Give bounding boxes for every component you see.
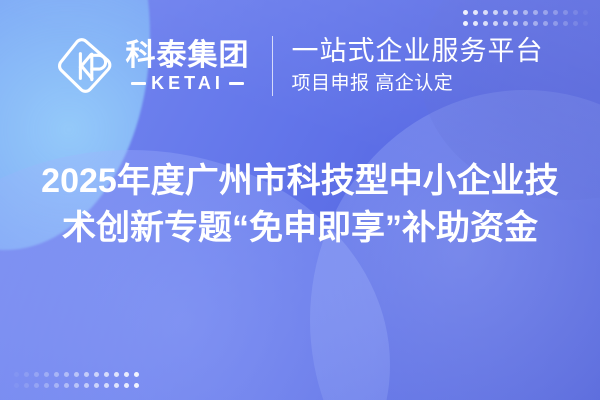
decorative-dot bbox=[463, 10, 468, 15]
decorative-dot bbox=[473, 21, 478, 26]
decorative-dot bbox=[543, 21, 548, 26]
decorative-dot bbox=[573, 10, 578, 15]
decorative-dot bbox=[44, 383, 49, 388]
decorative-dot bbox=[483, 21, 488, 26]
decorative-dot bbox=[84, 372, 89, 377]
tagline-secondary: 项目申报 高企认定 bbox=[292, 72, 544, 97]
decorative-dot bbox=[114, 383, 119, 388]
decorative-dot bbox=[64, 383, 69, 388]
decorative-dot bbox=[74, 372, 79, 377]
decorative-dot bbox=[54, 372, 59, 377]
decorative-dot bbox=[563, 21, 568, 26]
decorative-dot bbox=[563, 10, 568, 15]
decorative-dot bbox=[94, 383, 99, 388]
decorative-dot bbox=[463, 21, 468, 26]
decorative-dot bbox=[14, 372, 19, 377]
dot-grid-top-right bbox=[463, 10, 588, 26]
decorative-dot bbox=[583, 10, 588, 15]
brand-wordmark: 科泰集团 KETAI bbox=[126, 40, 250, 92]
decorative-dot bbox=[24, 372, 29, 377]
decorative-dot bbox=[84, 383, 89, 388]
brand-name-cn: 科泰集团 bbox=[126, 40, 250, 71]
decorative-dot bbox=[54, 383, 59, 388]
decorative-dot bbox=[513, 21, 518, 26]
decorative-dot bbox=[104, 372, 109, 377]
decorative-dot bbox=[124, 372, 129, 377]
decorative-dot bbox=[503, 21, 508, 26]
decorative-dot bbox=[94, 372, 99, 377]
tagline-block: 一站式企业服务平台 项目申报 高企认定 bbox=[292, 36, 544, 97]
decorative-dot bbox=[24, 383, 29, 388]
decorative-dot bbox=[134, 383, 139, 388]
decorative-dot bbox=[114, 372, 119, 377]
brand-name-en: KETAI bbox=[151, 74, 224, 92]
decorative-dot bbox=[493, 10, 498, 15]
decorative-dot bbox=[64, 372, 69, 377]
wordmark-dash-right bbox=[229, 82, 244, 85]
wordmark-dash-left bbox=[131, 82, 146, 85]
brand-logo[interactable]: 科泰集团 KETAI bbox=[57, 37, 250, 95]
dot-row bbox=[14, 383, 139, 388]
ketai-diamond-kp-monogram-icon bbox=[57, 37, 115, 95]
decorative-dot bbox=[493, 21, 498, 26]
decorative-dot bbox=[14, 383, 19, 388]
decorative-dot bbox=[74, 383, 79, 388]
dot-row bbox=[463, 10, 588, 15]
decorative-dot bbox=[543, 10, 548, 15]
decorative-dot bbox=[473, 10, 478, 15]
decorative-dot bbox=[134, 372, 139, 377]
dot-row bbox=[14, 372, 139, 377]
decorative-dot bbox=[503, 10, 508, 15]
decorative-dot bbox=[583, 21, 588, 26]
decorative-dot bbox=[513, 10, 518, 15]
decorative-dot bbox=[523, 10, 528, 15]
decorative-dot bbox=[573, 21, 578, 26]
decorative-dot bbox=[34, 372, 39, 377]
decorative-dot bbox=[104, 383, 109, 388]
decorative-dot bbox=[34, 383, 39, 388]
decorative-dot bbox=[483, 10, 488, 15]
decorative-dot bbox=[553, 10, 558, 15]
dot-grid-bottom-left bbox=[14, 372, 139, 388]
decorative-dot bbox=[124, 383, 129, 388]
decorative-dot bbox=[44, 372, 49, 377]
banner-header: 科泰集团 KETAI 一站式企业服务平台 项目申报 高企认定 bbox=[0, 36, 600, 97]
decorative-dot bbox=[553, 21, 558, 26]
brand-name-en-row: KETAI bbox=[126, 74, 250, 92]
tagline-primary: 一站式企业服务平台 bbox=[292, 36, 544, 68]
decorative-dot bbox=[533, 21, 538, 26]
promo-banner: 科泰集团 KETAI 一站式企业服务平台 项目申报 高企认定 2025年度广州市… bbox=[0, 0, 600, 400]
decorative-dot bbox=[523, 21, 528, 26]
decorative-dot bbox=[533, 10, 538, 15]
page-title: 2025年度广州市科技型中小企业技术创新专题“免申即享”补助资金 bbox=[0, 158, 600, 252]
dot-row bbox=[463, 21, 588, 26]
header-vertical-divider bbox=[272, 36, 273, 96]
